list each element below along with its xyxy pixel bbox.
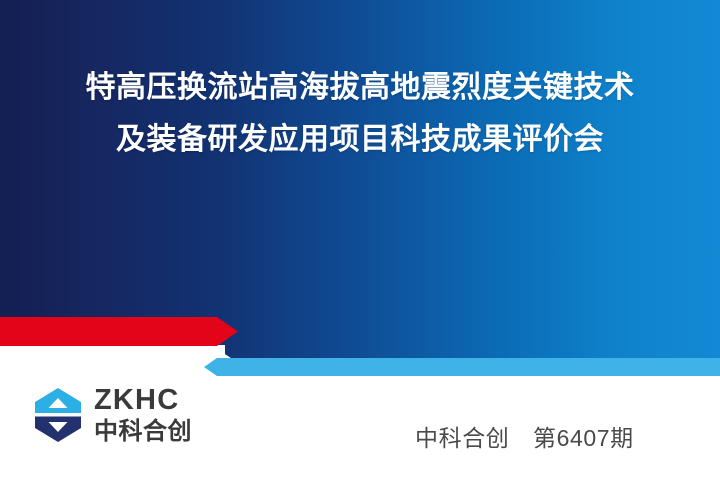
red-chevron-band [0, 317, 238, 346]
presentation-slide: 特高压换流站高海拔高地震烈度关键技术 及装备研发应用项目科技成果评价会 ZKHC… [0, 0, 720, 492]
blue-chevron-band [204, 358, 720, 376]
slide-title: 特高压换流站高海拔高地震烈度关键技术 及装备研发应用项目科技成果评价会 [0, 62, 720, 166]
slide-title-line-2: 及装备研发应用项目科技成果评价会 [0, 114, 720, 166]
zkhc-logo-latin-text: ZKHC [94, 386, 192, 415]
zkhc-logo-wordmark: ZKHC 中科合创 [94, 386, 192, 444]
zkhc-logo-lockup: ZKHC 中科合创 [33, 386, 192, 444]
hero-notch-cutout [0, 345, 225, 361]
slide-title-line-1: 特高压换流站高海拔高地震烈度关键技术 [0, 62, 720, 114]
zkhc-logo-chinese-text: 中科合创 [94, 420, 192, 444]
footer-caption: 中科合创 第6407期 [415, 419, 634, 453]
zkhc-hexagon-logo-icon [33, 387, 83, 443]
hero-gradient-panel [0, 0, 720, 361]
